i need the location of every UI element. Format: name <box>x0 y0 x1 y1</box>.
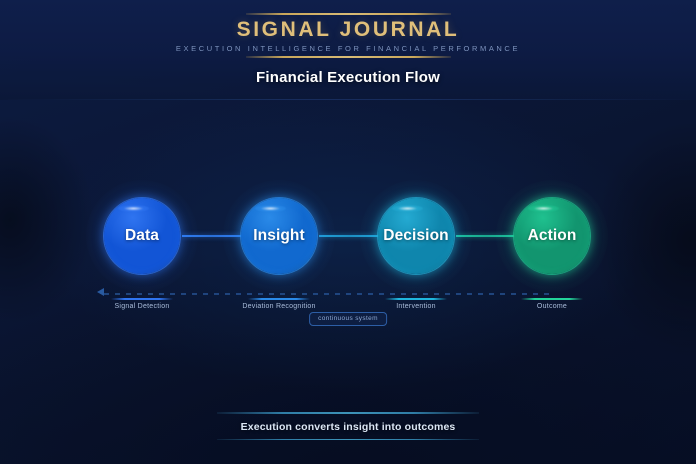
flow-sublabel-decision: Intervention <box>341 298 491 310</box>
masthead-rule-bottom <box>246 56 451 58</box>
node-label: Decision <box>383 227 448 245</box>
node-highlight-icon <box>118 205 149 212</box>
flow-sublabel-insight: Deviation Recognition <box>204 298 354 310</box>
node-highlight-icon <box>255 205 286 212</box>
sublabel-bar <box>248 298 310 300</box>
flow-node-decision[interactable]: Decision <box>360 180 472 292</box>
continuous-system-badge: continuous system <box>309 312 387 326</box>
flow-sublabel-data: Signal Detection <box>67 298 217 310</box>
node-label: Insight <box>253 227 305 245</box>
sublabel-bar <box>521 298 583 300</box>
brand-title: SIGNAL JOURNAL <box>0 15 696 43</box>
feedback-loop-line <box>104 293 554 295</box>
flow-node-insight[interactable]: Insight <box>223 180 335 292</box>
sublabel-text: Signal Detection <box>67 303 217 310</box>
node-label: Action <box>528 227 577 245</box>
node-highlight-icon <box>528 205 559 212</box>
brand-tagline: EXECUTION INTELLIGENCE FOR FINANCIAL PER… <box>0 43 696 56</box>
arrow-left-icon <box>97 288 104 296</box>
masthead: SIGNAL JOURNAL EXECUTION INTELLIGENCE FO… <box>0 13 696 86</box>
sublabel-bar <box>385 298 447 300</box>
sublabel-bar <box>111 298 173 300</box>
diagram-canvas: SIGNAL JOURNAL EXECUTION INTELLIGENCE FO… <box>0 0 696 464</box>
page-title: Financial Execution Flow <box>0 69 696 86</box>
footer-text: Execution converts insight into outcomes <box>217 414 479 439</box>
flow-node-data[interactable]: Data <box>86 180 198 292</box>
flow-sublabel-action: Outcome <box>477 298 627 310</box>
node-label: Data <box>125 227 159 245</box>
node-highlight-icon <box>392 205 423 212</box>
sublabel-text: Intervention <box>341 303 491 310</box>
sublabel-text: Deviation Recognition <box>204 303 354 310</box>
footer-rule-bottom <box>217 439 479 441</box>
flow-node-action[interactable]: Action <box>496 180 608 292</box>
sublabel-text: Outcome <box>477 303 627 310</box>
footer: Execution converts insight into outcomes <box>217 412 479 440</box>
flow-diagram: Data Signal Detection Insight Deviation … <box>0 180 696 300</box>
